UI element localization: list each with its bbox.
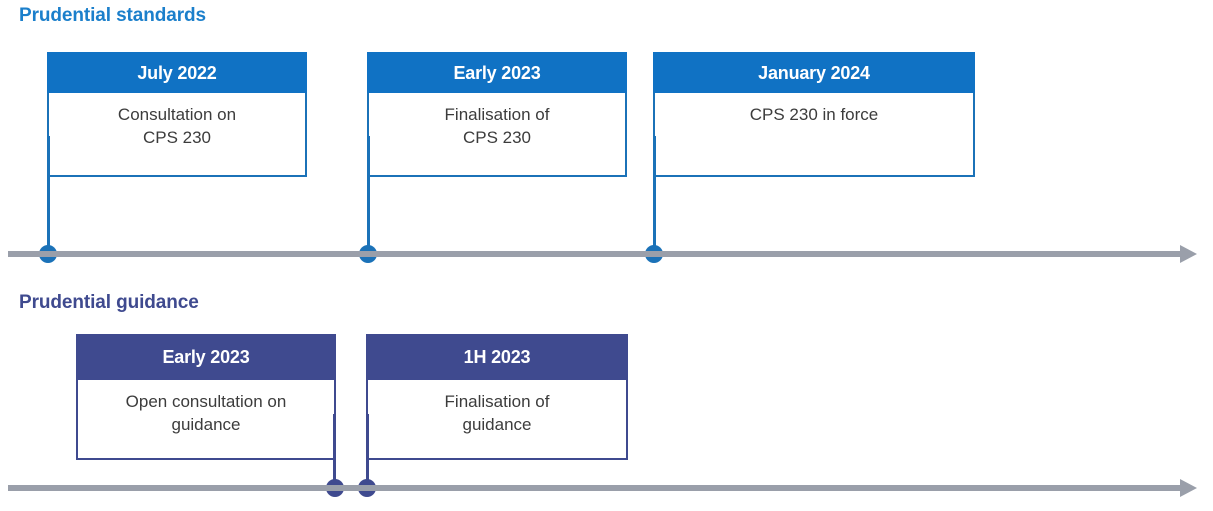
milestone-description: Finalisation of guidance: [366, 380, 628, 460]
section-heading-prudential-standards: Prudential standards: [19, 6, 206, 25]
timeline-diagram: Prudential standards July 2022 Consultat…: [0, 0, 1213, 511]
milestone-description: Consultation on CPS 230: [47, 93, 307, 177]
milestone-connector-early-2023-standards: [367, 136, 370, 256]
milestone-description: Open consultation on guidance: [76, 380, 336, 460]
milestone-card-july-2022: July 2022 Consultation on CPS 230: [47, 52, 307, 177]
timeline-arrow-icon-guidance: [1180, 479, 1197, 497]
milestone-card-early-2023-standards: Early 2023 Finalisation of CPS 230: [367, 52, 627, 177]
milestone-card-1h-2023: 1H 2023 Finalisation of guidance: [366, 334, 628, 460]
milestone-date-label: July 2022: [47, 52, 307, 93]
milestone-date-label: 1H 2023: [366, 334, 628, 380]
milestone-connector-january-2024: [653, 136, 656, 256]
milestone-date-label: Early 2023: [367, 52, 627, 93]
milestone-connector-july-2022: [47, 136, 50, 256]
milestone-date-label: Early 2023: [76, 334, 336, 380]
milestone-card-january-2024: January 2024 CPS 230 in force: [653, 52, 975, 177]
milestone-description: Finalisation of CPS 230: [367, 93, 627, 177]
milestone-date-label: January 2024: [653, 52, 975, 93]
section-heading-prudential-guidance: Prudential guidance: [19, 293, 199, 312]
timeline-arrow-icon-standards: [1180, 245, 1197, 263]
milestone-card-early-2023-guidance: Early 2023 Open consultation on guidance: [76, 334, 336, 460]
timeline-axis-standards: [8, 251, 1183, 257]
timeline-axis-guidance: [8, 485, 1183, 491]
milestone-description: CPS 230 in force: [653, 93, 975, 177]
